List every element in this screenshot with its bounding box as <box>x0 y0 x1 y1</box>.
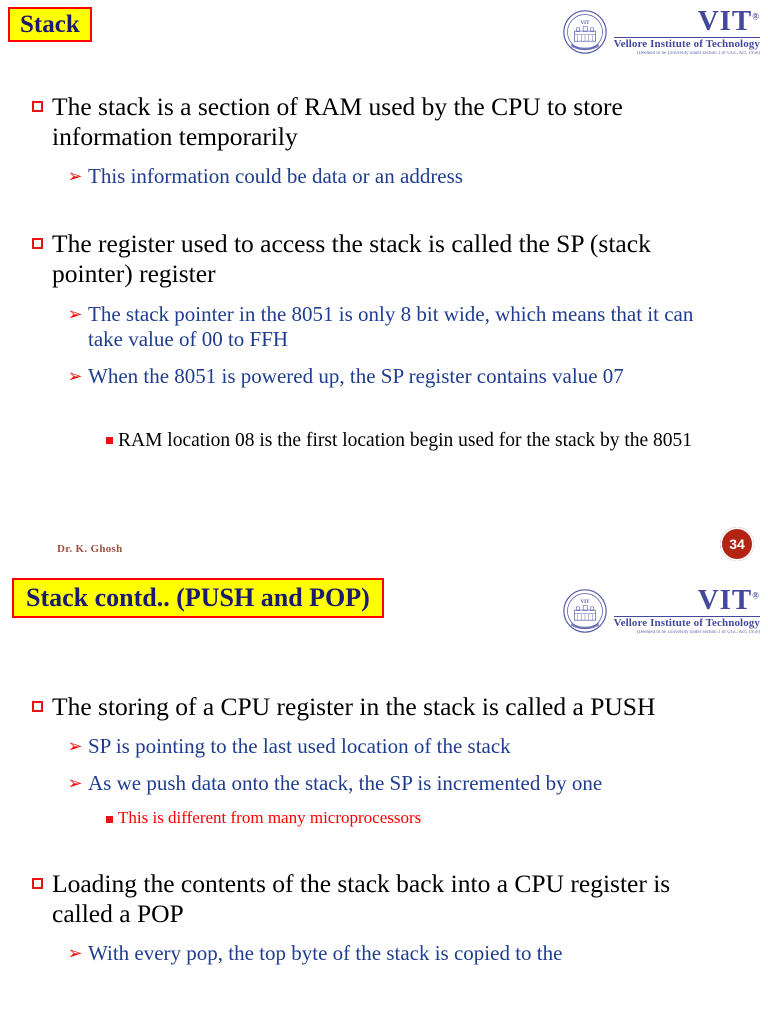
hollow-square-bullet-icon <box>22 92 52 112</box>
bullet-level2: ➢ The stack pointer in the 8051 is only … <box>62 302 718 352</box>
bullet-text: When the 8051 is powered up, the SP regi… <box>88 364 718 389</box>
arrow-bullet-icon: ➢ <box>62 941 88 965</box>
page-number-badge: 34 <box>720 527 754 561</box>
spacer <box>0 352 768 364</box>
vit-logo: VIT VIT® Vellore Institute of Technology… <box>562 587 760 635</box>
registered-mark-icon: ® <box>752 590 760 600</box>
slide-stack: Stack VIT VIT® Vellore <box>0 0 768 567</box>
spacer <box>0 829 768 869</box>
slide-body: The storing of a CPU register in the sta… <box>0 692 768 966</box>
bullet-text: As we push data onto the stack, the SP i… <box>88 771 718 796</box>
slide-title: Stack contd.. (PUSH and POP) <box>12 578 384 618</box>
bullet-level3: This is different from many microprocess… <box>100 808 713 828</box>
vit-wordmark: VIT® Vellore Institute of Technology (De… <box>614 587 760 635</box>
bullet-text: With every pop, the top byte of the stac… <box>88 941 718 966</box>
bullet-text: RAM location 08 is the first location be… <box>118 429 713 452</box>
arrow-bullet-icon: ➢ <box>62 734 88 758</box>
slide-title: Stack <box>8 7 92 42</box>
vit-tagline: Vellore Institute of Technology <box>614 39 760 50</box>
svg-text:VIT: VIT <box>580 599 590 605</box>
arrow-bullet-icon: ➢ <box>62 771 88 795</box>
bullet-text: This is different from many microprocess… <box>118 808 713 828</box>
bullet-level1: The register used to access the stack is… <box>22 229 728 289</box>
bullet-text: This information could be data or an add… <box>88 164 718 189</box>
spacer <box>0 290 768 302</box>
vit-crest-icon: VIT <box>562 9 608 55</box>
bullet-level1: Loading the contents of the stack back i… <box>22 869 728 929</box>
spacer <box>0 389 768 429</box>
author-credit: Dr. K. Ghosh <box>57 543 123 555</box>
slide-stack-push-pop: Stack contd.. (PUSH and POP) VIT VIT <box>0 567 768 1024</box>
spacer <box>0 152 768 164</box>
slide-body: The stack is a section of RAM used by th… <box>0 92 768 452</box>
hollow-square-bullet-icon <box>22 229 52 249</box>
spacer <box>0 929 768 941</box>
vit-name: VIT® <box>698 587 760 615</box>
spacer <box>0 796 768 808</box>
arrow-bullet-icon: ➢ <box>62 364 88 388</box>
vit-name: VIT® <box>698 8 760 36</box>
spacer <box>0 759 768 771</box>
vit-wordmark: VIT® Vellore Institute of Technology (De… <box>614 8 760 56</box>
spacer <box>0 189 768 229</box>
arrow-bullet-icon: ➢ <box>62 302 88 326</box>
bullet-text: Loading the contents of the stack back i… <box>52 869 728 929</box>
vit-accreditation: (Deemed to be University under section 3… <box>637 51 760 56</box>
svg-text:VIT: VIT <box>580 20 590 26</box>
bullet-level3: RAM location 08 is the first location be… <box>100 429 713 452</box>
arrow-bullet-icon: ➢ <box>62 164 88 188</box>
bullet-level1: The storing of a CPU register in the sta… <box>22 692 728 722</box>
solid-square-bullet-icon <box>100 429 118 444</box>
spacer <box>0 722 768 734</box>
hollow-square-bullet-icon <box>22 692 52 712</box>
bullet-text: The storing of a CPU register in the sta… <box>52 692 728 722</box>
bullet-text: The stack is a section of RAM used by th… <box>52 92 728 152</box>
bullet-level2: ➢ With every pop, the top byte of the st… <box>62 941 718 966</box>
hollow-square-bullet-icon <box>22 869 52 889</box>
bullet-level2: ➢ This information could be data or an a… <box>62 164 718 189</box>
bullet-level2: ➢ When the 8051 is powered up, the SP re… <box>62 364 718 389</box>
bullet-level2: ➢ As we push data onto the stack, the SP… <box>62 771 718 796</box>
bullet-text: The register used to access the stack is… <box>52 229 728 289</box>
vit-tagline: Vellore Institute of Technology <box>614 618 760 629</box>
vit-crest-icon: VIT <box>562 588 608 634</box>
bullet-text: The stack pointer in the 8051 is only 8 … <box>88 302 718 352</box>
solid-square-bullet-icon <box>100 808 118 823</box>
bullet-level2: ➢ SP is pointing to the last used locati… <box>62 734 718 759</box>
bullet-text: SP is pointing to the last used location… <box>88 734 718 759</box>
vit-accreditation: (Deemed to be University under section 3… <box>637 630 760 635</box>
bullet-level1: The stack is a section of RAM used by th… <box>22 92 728 152</box>
registered-mark-icon: ® <box>752 11 760 21</box>
vit-logo: VIT VIT® Vellore Institute of Technology… <box>562 8 760 56</box>
